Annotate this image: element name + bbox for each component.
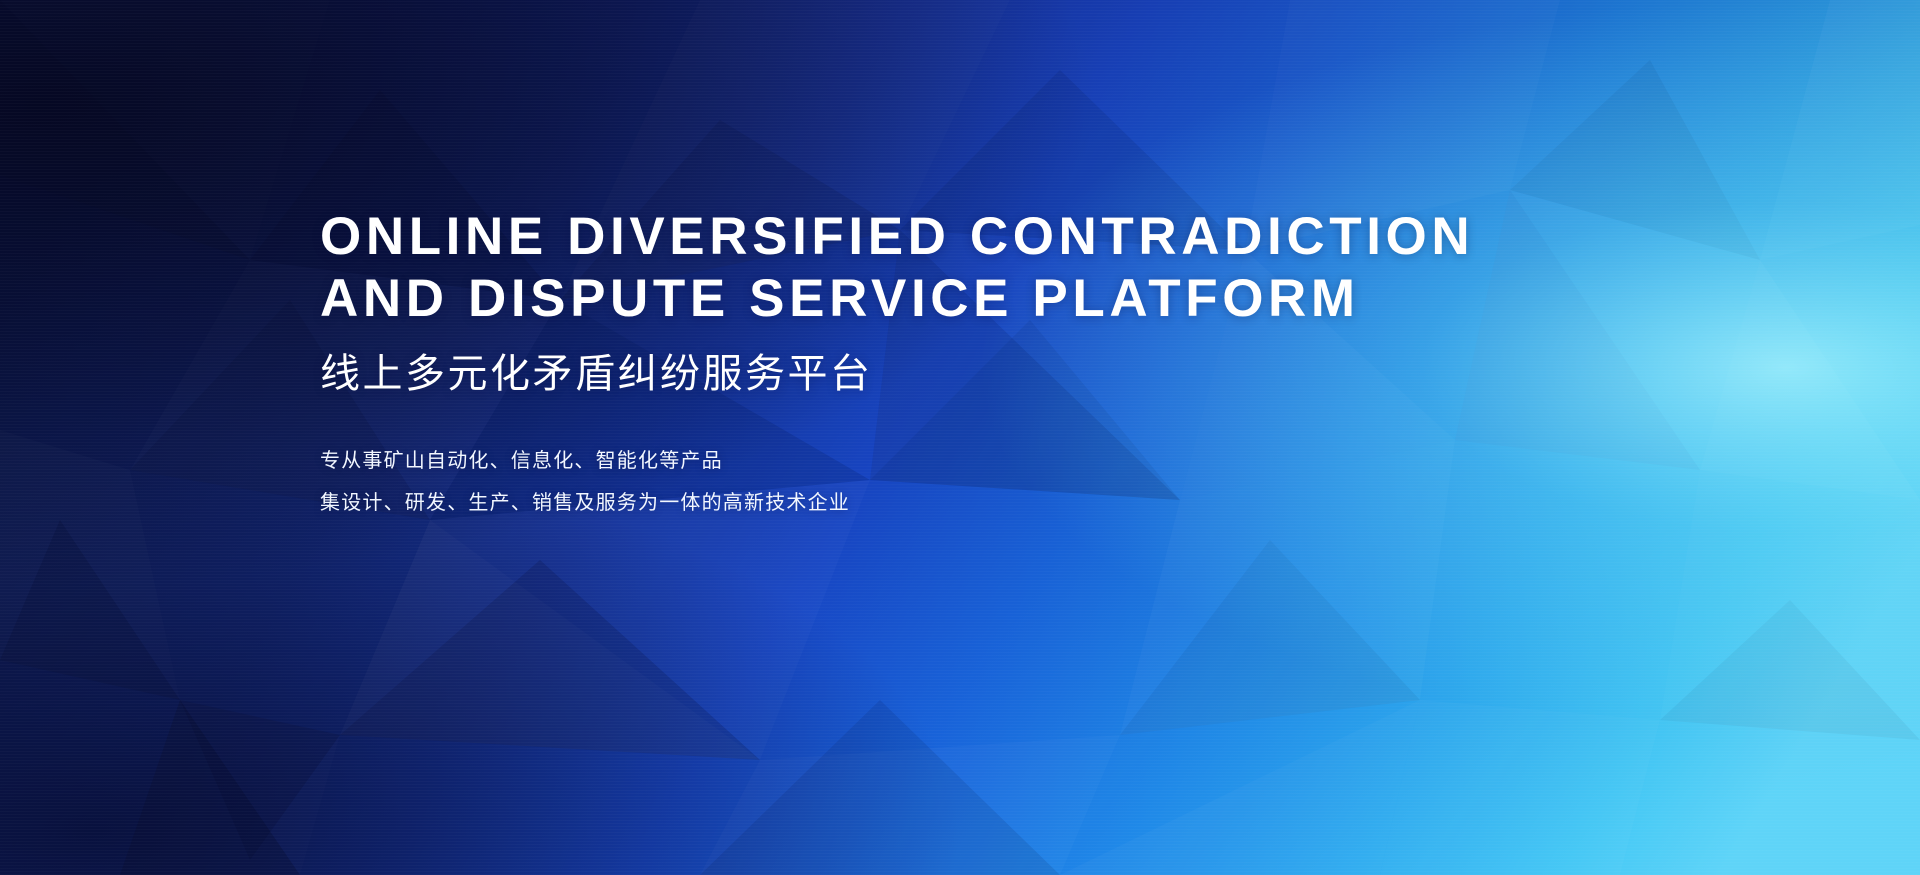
headline-line-2: AND DISPUTE SERVICE PLATFORM [320,268,1660,330]
description-line-2: 集设计、研发、生产、销售及服务为一体的高新技术企业 [320,488,1660,518]
description-block: 专从事矿山自动化、信息化、智能化等产品 集设计、研发、生产、销售及服务为一体的高… [320,446,1660,518]
hero-content: ONLINE DIVERSIFIED CONTRADICTION AND DIS… [320,206,1660,518]
description-line-1: 专从事矿山自动化、信息化、智能化等产品 [320,446,1660,476]
hero-banner: ONLINE DIVERSIFIED CONTRADICTION AND DIS… [0,0,1920,875]
headline-line-1: ONLINE DIVERSIFIED CONTRADICTION [320,206,1660,268]
subtitle-chinese: 线上多元化矛盾纠纷服务平台 [320,350,1660,398]
